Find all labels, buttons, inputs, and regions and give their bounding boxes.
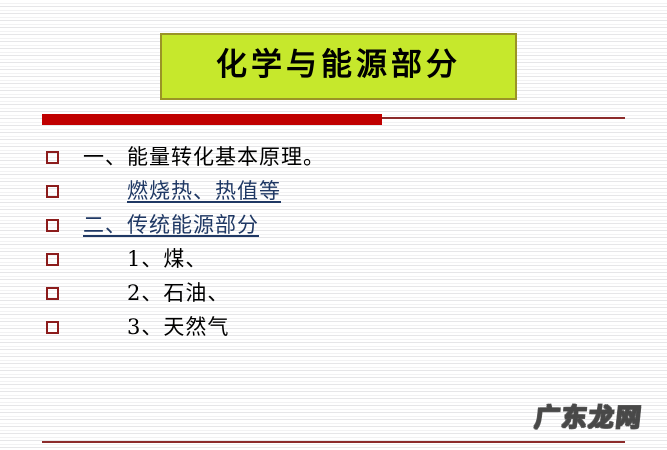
footer-rule	[42, 441, 625, 443]
list-item-link-label[interactable]: 燃烧热、热值等	[69, 181, 281, 202]
presentation-slide: 化学与能源部分 一、能量转化基本原理。 燃烧热、热值等 二、传统能源部分 1、煤…	[0, 0, 667, 450]
square-bullet-icon	[46, 219, 59, 232]
list-item: 3、天然气	[46, 310, 626, 344]
square-bullet-icon	[46, 185, 59, 198]
list-item-label: 一、能量转化基本原理。	[69, 147, 325, 168]
slide-title-box: 化学与能源部分	[160, 33, 517, 100]
square-bullet-icon	[46, 321, 59, 334]
list-item: 燃烧热、热值等	[46, 174, 626, 208]
slide-title-text: 化学与能源部分	[216, 50, 461, 81]
square-bullet-icon	[46, 253, 59, 266]
bullet-list: 一、能量转化基本原理。 燃烧热、热值等 二、传统能源部分 1、煤、 2、石油、 …	[46, 140, 626, 344]
square-bullet-icon	[46, 151, 59, 164]
list-item: 1、煤、	[46, 242, 626, 276]
list-item: 二、传统能源部分	[46, 208, 626, 242]
list-item: 2、石油、	[46, 276, 626, 310]
list-item-label: 3、天然气	[69, 317, 229, 338]
list-item-label: 2、石油、	[69, 283, 229, 304]
list-item-link-label[interactable]: 二、传统能源部分	[69, 215, 259, 236]
square-bullet-icon	[46, 287, 59, 300]
title-underline-thick-rule	[42, 114, 382, 125]
site-watermark: 广东龙网	[533, 398, 645, 434]
list-item-label: 1、煤、	[69, 249, 207, 270]
list-item: 一、能量转化基本原理。	[46, 140, 626, 174]
